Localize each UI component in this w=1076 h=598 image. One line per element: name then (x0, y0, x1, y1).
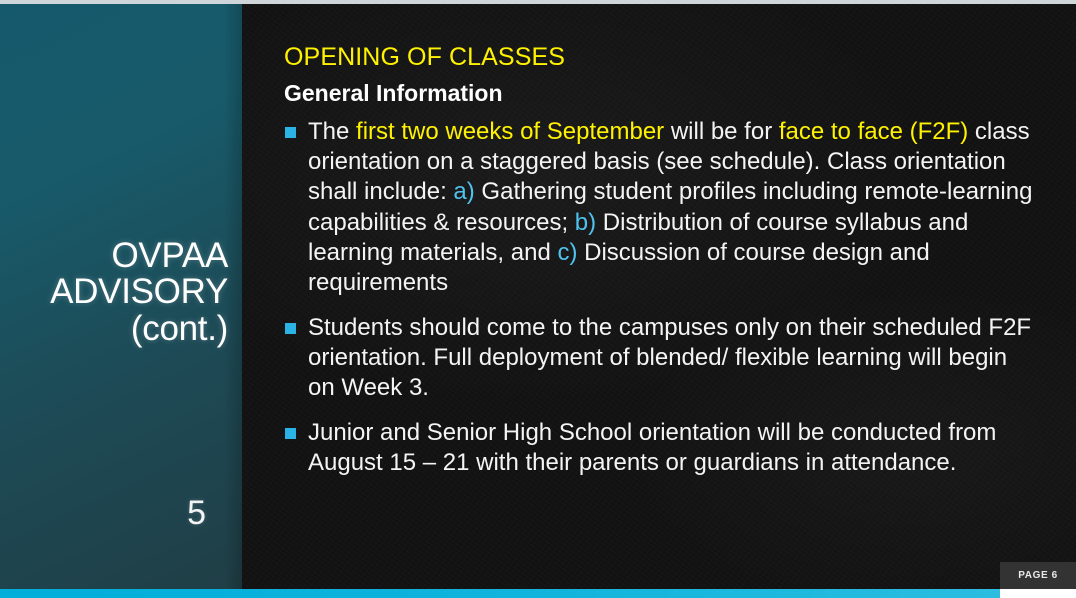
section-heading-opening-of-classes: OPENING OF CLASSES (284, 42, 1034, 72)
bottom-accent-bar (0, 589, 1000, 598)
side-title-line-2: ADVISORY (0, 274, 228, 310)
page-badge: PAGE 6 (1000, 562, 1076, 589)
page-badge-label: PAGE 6 (1018, 570, 1058, 581)
bullet-text-segment: c) (557, 239, 577, 266)
slide-page-number: 5 (0, 494, 206, 533)
slide-bullet-list: The first two weeks of September will be… (284, 117, 1034, 479)
bullet-students-campuses: Students should come to the campuses onl… (284, 313, 1034, 404)
slide-body-block: OPENING OF CLASSES General Information T… (284, 42, 1034, 479)
top-edge-strip (0, 0, 1076, 4)
bullet-square-icon (285, 323, 296, 334)
bullet-text-segment: b) (575, 209, 596, 236)
side-title-line-3: (cont.) (0, 311, 228, 347)
subsection-heading-general-information: General Information (284, 80, 1034, 108)
bullet-text-segment: The (308, 118, 356, 145)
bottom-right-white-strip (1000, 589, 1076, 598)
bullet-text-segment: Students should come to the campuses onl… (308, 314, 1031, 402)
bullet-square-icon (285, 127, 296, 138)
presentation-slide: OVPAA ADVISORY (cont.) 5 OPENING OF CLAS… (0, 0, 1076, 598)
side-title-line-1: OVPAA (0, 238, 228, 274)
bullet-square-icon (285, 428, 296, 439)
bullet-text-segment: a) (453, 178, 474, 205)
bullet-text-segment: will be for (664, 118, 779, 145)
slide-side-title: OVPAA ADVISORY (cont.) (0, 238, 228, 347)
bullet-text-segment: Junior and Senior High School orientatio… (308, 419, 996, 476)
bullet-first-two-weeks: The first two weeks of September will be… (284, 117, 1034, 299)
slide-side-panel: OVPAA ADVISORY (cont.) 5 (0, 0, 242, 598)
bullet-junior-senior-high: Junior and Senior High School orientatio… (284, 418, 1034, 479)
slide-content-area: OPENING OF CLASSES General Information T… (242, 0, 1076, 598)
bullet-text-segment: face to face (F2F) (779, 118, 968, 145)
bullet-text-segment: first two weeks of September (356, 118, 664, 145)
